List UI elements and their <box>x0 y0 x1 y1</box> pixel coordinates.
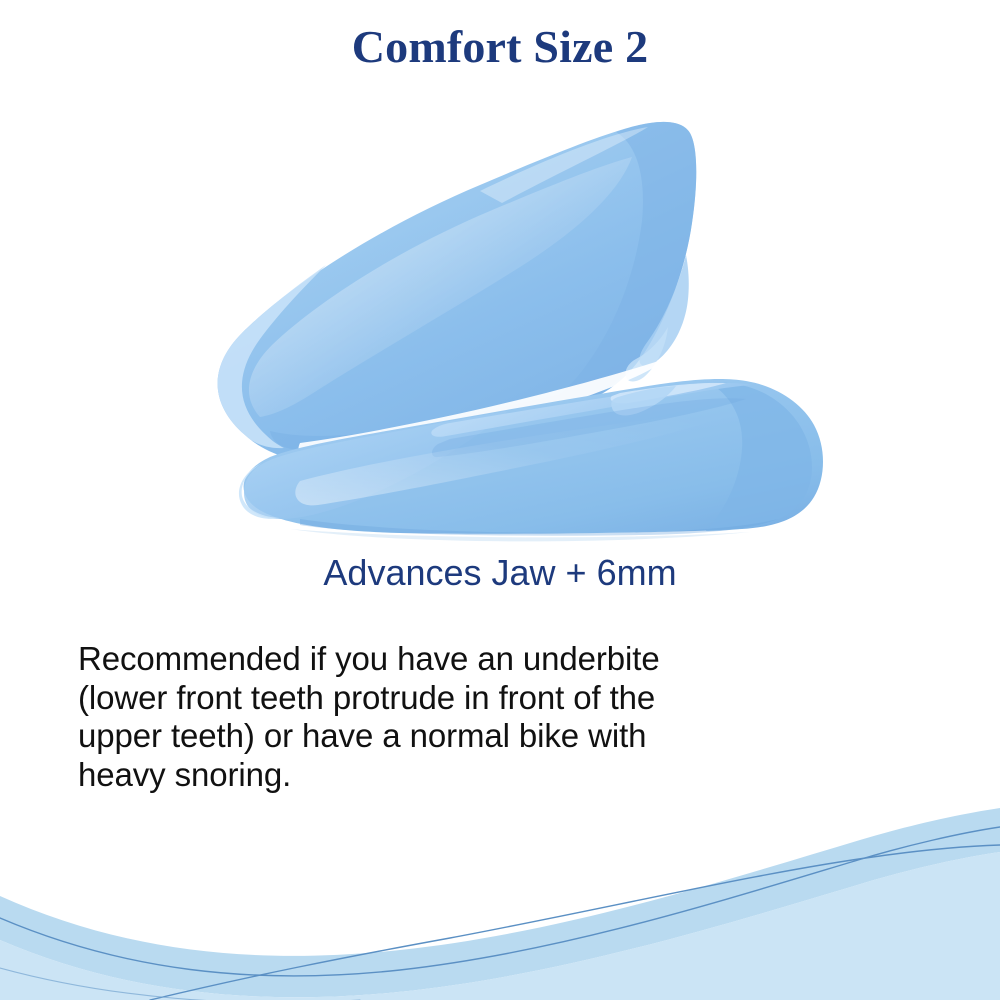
product-subtitle: Advances Jaw + 6mm <box>0 551 1000 594</box>
product-size-card: Comfort Size 2 <box>0 0 1000 1000</box>
description-text: Recommended if you have an underbite (lo… <box>78 640 878 794</box>
description-line: Recommended if you have an underbite <box>78 640 878 679</box>
description-line: (lower front teeth protrude in front of … <box>78 679 878 718</box>
page-title: Comfort Size 2 <box>0 22 1000 73</box>
description-line: upper teeth) or have a normal bike with <box>78 717 878 756</box>
description-line: heavy snoring. <box>78 756 878 795</box>
product-image <box>150 105 850 555</box>
wave-decoration <box>0 800 1000 1000</box>
